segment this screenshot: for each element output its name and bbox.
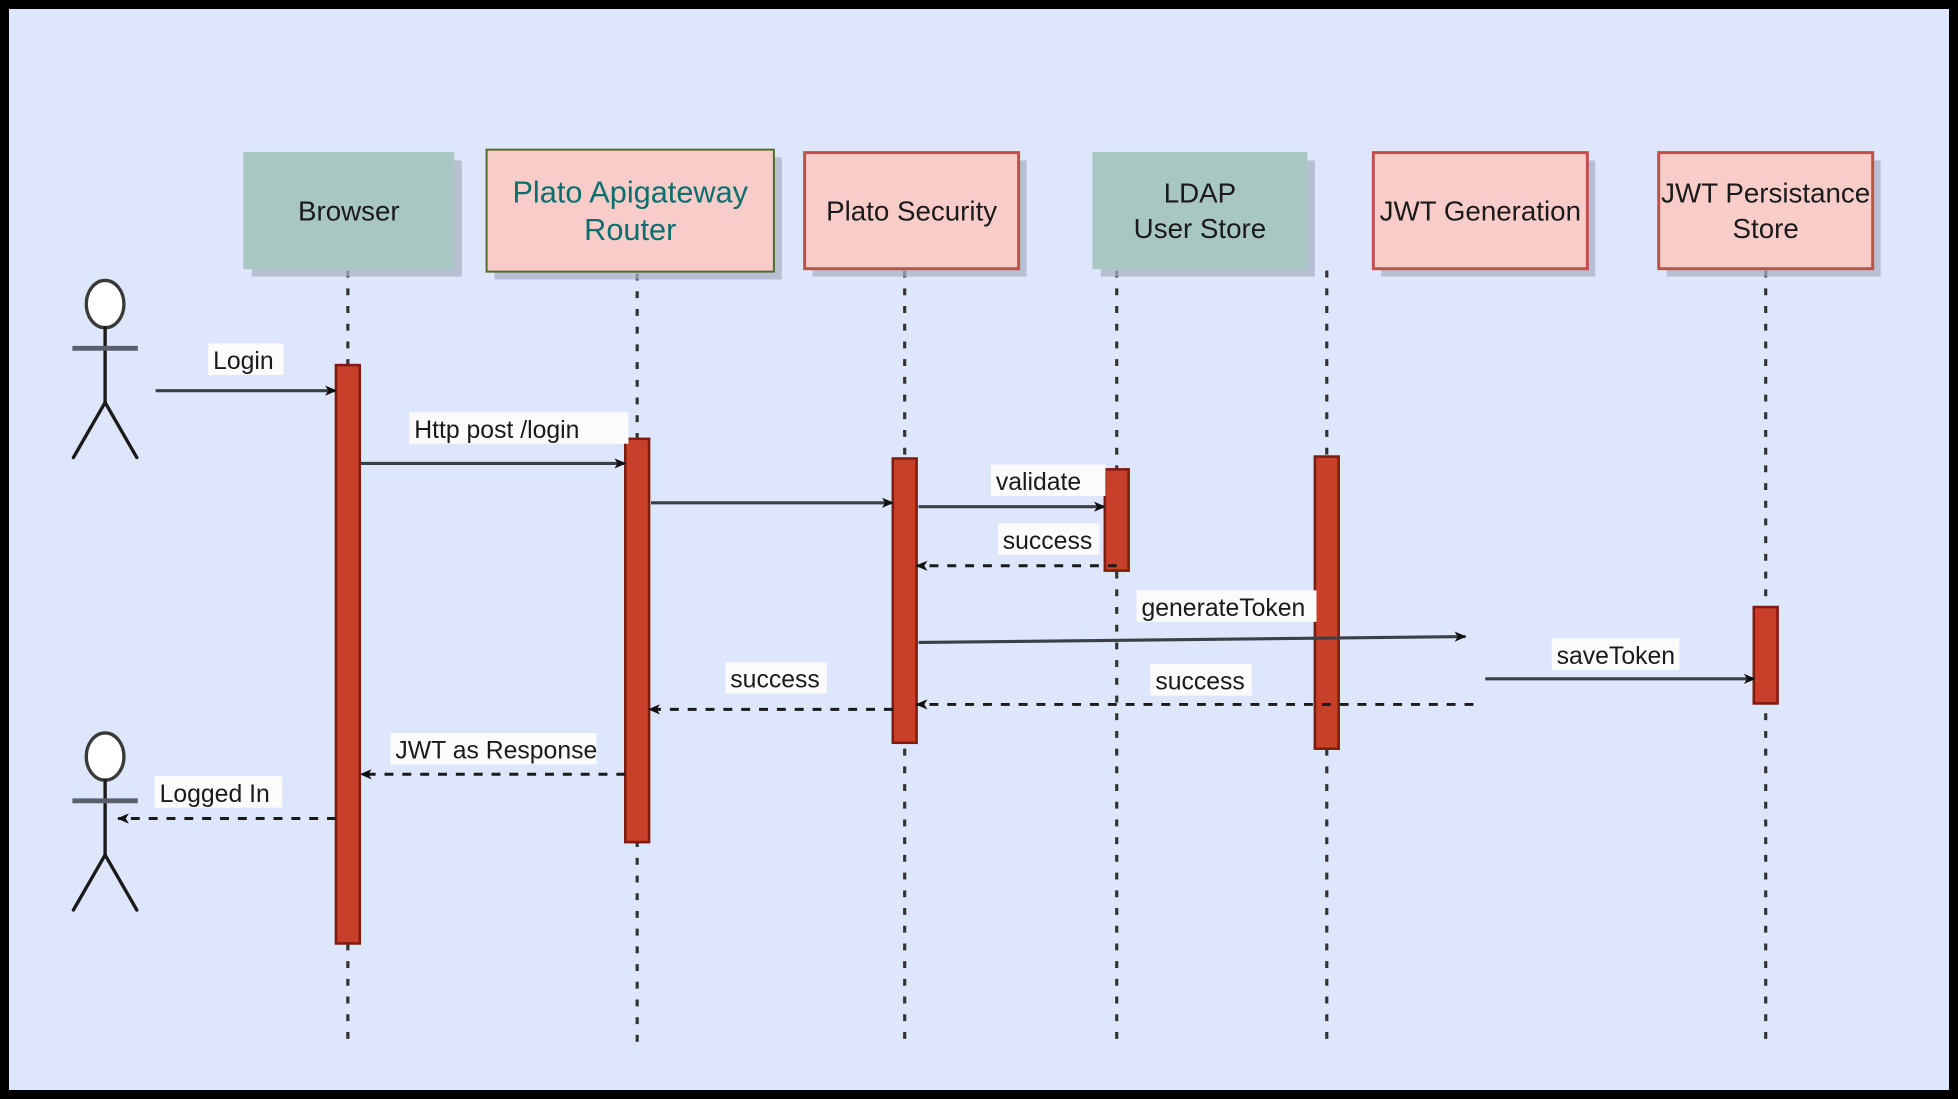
message-label-m5: success — [1003, 528, 1092, 555]
message-label-m8: success — [1155, 669, 1244, 696]
message-m5[interactable]: success — [917, 523, 1117, 565]
message-m11[interactable]: Logged In — [118, 776, 336, 818]
messages-group: LoginHttp post /loginvalidatesuccessgene… — [118, 343, 1755, 818]
actor-leg-right-actor-top — [105, 402, 137, 457]
actor-leg-left-actor-top — [73, 402, 105, 457]
activation-bar-browser — [336, 365, 360, 943]
message-m1[interactable]: Login — [156, 343, 336, 390]
participant-label-ldap: User Store — [1134, 213, 1267, 244]
participant-box-apigateway[interactable]: Plato ApigatewayRouter — [487, 150, 782, 280]
participant-box-ldap[interactable]: LDAPUser Store — [1093, 153, 1315, 277]
diagram-canvas: BrowserPlato ApigatewayRouterPlato Secur… — [0, 0, 1958, 1099]
message-m2[interactable]: Http post /login — [361, 412, 629, 463]
message-m8[interactable]: success — [917, 664, 1474, 704]
participant-box-security[interactable]: Plato Security — [805, 153, 1027, 277]
activation-bar-ldap — [1105, 469, 1129, 570]
message-m6[interactable]: generateToken — [919, 590, 1466, 642]
actor-head-actor-top — [86, 280, 124, 327]
participant-box-jwtgen[interactable]: JWT Generation — [1373, 153, 1595, 277]
participant-label-jwtstore: Store — [1733, 213, 1799, 244]
message-m7[interactable]: saveToken — [1485, 639, 1754, 679]
message-label-m7: saveToken — [1557, 643, 1675, 670]
actor-leg-right-actor-bottom — [105, 855, 137, 910]
actor-actor-bottom[interactable] — [72, 733, 137, 910]
actor-leg-left-actor-bottom — [73, 855, 105, 910]
participant-label-ldap: LDAP — [1164, 178, 1236, 209]
message-label-m11: Logged In — [160, 781, 270, 808]
participant-label-apigateway: Plato Apigateway — [512, 176, 748, 210]
message-m4[interactable]: validate — [919, 464, 1106, 506]
participant-label-security: Plato Security — [826, 195, 997, 226]
message-label-m4: validate — [996, 469, 1081, 496]
participant-box-rect-ldap[interactable] — [1093, 153, 1307, 269]
participant-label-jwtstore: JWT Persistance — [1661, 178, 1870, 209]
message-m10[interactable]: JWT as Response — [361, 733, 626, 774]
participant-box-jwtstore[interactable]: JWT PersistanceStore — [1659, 153, 1881, 277]
message-label-m9: success — [730, 667, 819, 694]
activation-bar-apigateway — [625, 439, 649, 842]
message-line-m6 — [919, 637, 1466, 643]
activation-bar-security — [893, 459, 917, 743]
message-label-m6: generateToken — [1141, 595, 1305, 622]
message-label-m2: Http post /login — [414, 417, 579, 444]
actor-actor-top[interactable] — [72, 280, 137, 457]
activation-bar-jwtstore — [1754, 607, 1778, 703]
participant-label-jwtgen: JWT Generation — [1380, 195, 1581, 226]
message-label-m1: Login — [213, 348, 274, 375]
participant-box-rect-jwtstore[interactable] — [1659, 153, 1873, 269]
sequence-diagram-svg: BrowserPlato ApigatewayRouterPlato Secur… — [9, 9, 1949, 1090]
participant-label-browser: Browser — [298, 195, 400, 226]
participant-box-rect-apigateway[interactable] — [487, 150, 774, 272]
participant-box-browser[interactable]: Browser — [244, 153, 462, 277]
actors-group — [72, 280, 137, 910]
message-label-m10: JWT as Response — [395, 738, 597, 765]
participant-boxes-group: BrowserPlato ApigatewayRouterPlato Secur… — [244, 150, 1881, 280]
actor-head-actor-bottom — [86, 733, 124, 780]
message-m9[interactable]: success — [649, 662, 893, 709]
participant-label-apigateway: Router — [584, 213, 676, 247]
